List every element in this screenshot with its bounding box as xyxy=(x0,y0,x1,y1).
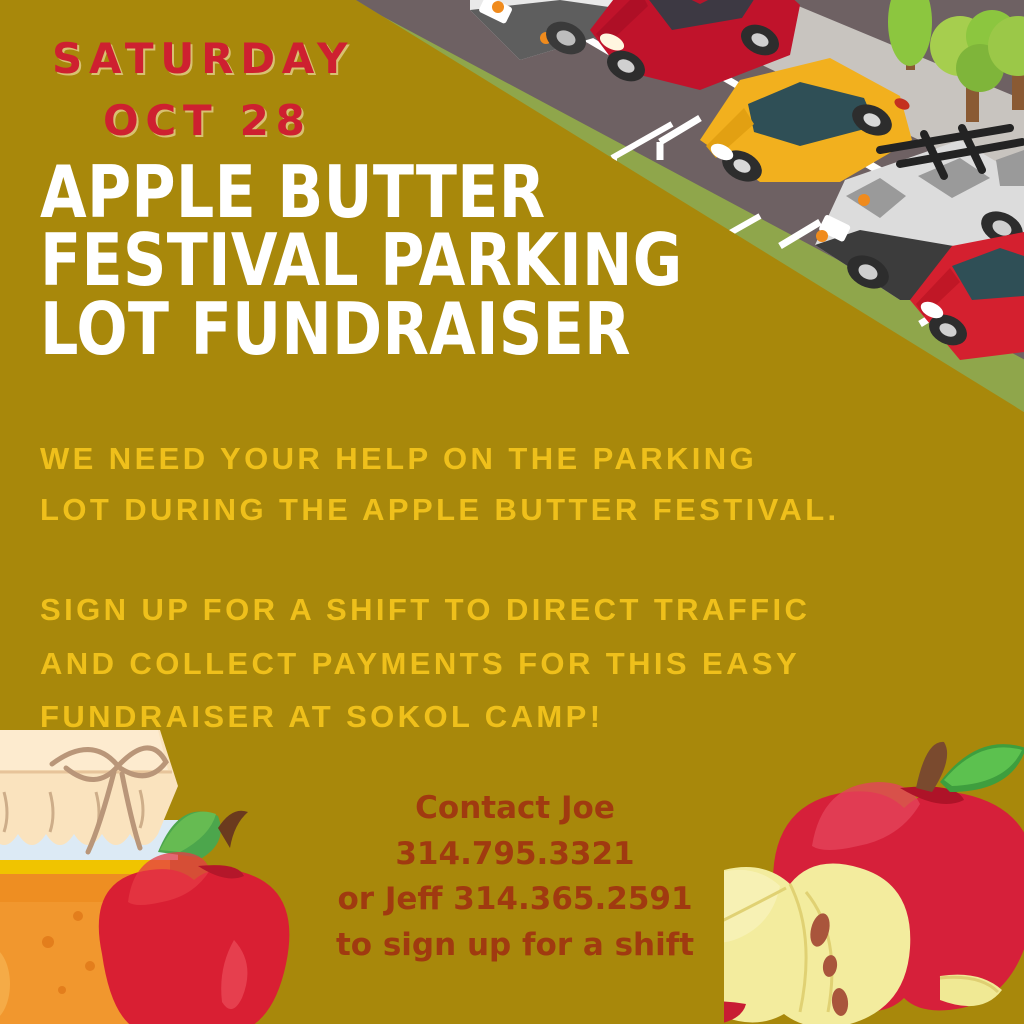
paragraph-2-line-2: AND COLLECT PAYMENTS FOR THIS EASY xyxy=(40,637,990,691)
jar-glass-shine xyxy=(0,946,10,1022)
apple-flesh xyxy=(724,864,910,1024)
apple-skin-edge xyxy=(724,1001,746,1024)
tree-foliage xyxy=(988,16,1024,76)
vehicle-truck-white xyxy=(470,0,675,61)
apple-slice xyxy=(940,975,1002,1006)
apple-slice-outline xyxy=(940,977,998,992)
headline-line-3: LOT FUNDRAISER xyxy=(40,295,635,363)
apple-dimple xyxy=(900,787,964,805)
apple-butter-jar-illustration xyxy=(0,724,312,1024)
paragraph-1-line-1: WE NEED YOUR HELP ON THE PARKING xyxy=(40,434,990,485)
tree-trunk xyxy=(1012,70,1024,110)
vehicle-car-red-2 xyxy=(910,232,1024,360)
jar-cloth-pleats xyxy=(4,790,143,832)
headline-title: APPLE BUTTER FESTIVAL PARKING LOT FUNDRA… xyxy=(40,158,635,363)
jar-twine-bow xyxy=(52,748,166,852)
vehicle-car-red-1 xyxy=(590,0,800,90)
apple-leaf xyxy=(158,812,221,859)
contact-call-to-action: to sign up for a shift xyxy=(280,923,750,969)
apple-seeds xyxy=(807,911,849,1016)
tree-foliage xyxy=(888,0,932,66)
contact-phone-secondary[interactable]: or Jeff 314.365.2591 xyxy=(280,877,750,923)
apple-leaf-highlight xyxy=(944,747,1022,786)
tree-foliage xyxy=(930,16,990,76)
apple-body xyxy=(773,791,1024,1011)
vehicle-van-white xyxy=(815,128,1024,300)
paragraph-2-line-1: SIGN UP FOR A SHIFT TO DIRECT TRAFFIC xyxy=(40,583,990,637)
event-date-label: OCT 28 xyxy=(103,96,312,145)
jar-butter-top xyxy=(0,844,170,874)
flyer-canvas: SATURDAY OCT 28 APPLE BUTTER FESTIVAL PA… xyxy=(0,0,1024,1024)
apple-highlight xyxy=(128,852,210,905)
headline-line-2: FESTIVAL PARKING xyxy=(40,226,635,294)
contact-phone-primary[interactable]: 314.795.3321 xyxy=(280,832,750,878)
event-day-label: SATURDAY xyxy=(52,34,354,83)
jar-texture-dots xyxy=(42,911,107,994)
apple-shine xyxy=(221,940,247,1009)
tree-group xyxy=(888,0,1024,122)
sidewalk xyxy=(560,0,1024,120)
apple-leaf xyxy=(940,744,1024,792)
apple-highlight xyxy=(812,782,920,850)
apple-body xyxy=(99,869,290,1024)
apple-leaf-highlight xyxy=(160,812,216,852)
apple-stem xyxy=(218,811,248,848)
description-paragraph-2: SIGN UP FOR A SHIFT TO DIRECT TRAFFIC AN… xyxy=(40,583,990,744)
sidewalk-strip xyxy=(560,0,1024,170)
tree-trunk xyxy=(906,36,915,70)
apple-dimple xyxy=(198,865,244,878)
contact-information: Contact Joe 314.795.3321 or Jeff 314.365… xyxy=(280,786,750,968)
paragraph-2-line-3: FUNDRAISER AT SOKOL CAMP! xyxy=(40,690,990,744)
jar-butter-body xyxy=(0,874,170,1024)
tree-foliage xyxy=(956,44,1004,92)
contact-name-line: Contact Joe xyxy=(280,786,750,832)
jar-glass xyxy=(0,852,170,1024)
tree-foliage xyxy=(966,10,1018,62)
description-paragraph-1: WE NEED YOUR HELP ON THE PARKING LOT DUR… xyxy=(40,434,990,536)
headline-line-1: APPLE BUTTER xyxy=(40,158,635,226)
jar-cloth-cover xyxy=(0,730,178,845)
tree-trunk xyxy=(966,78,979,122)
apple-stem xyxy=(916,742,947,792)
jar-neck xyxy=(0,820,178,860)
cut-apple-illustration xyxy=(724,726,1024,1024)
jar-highlight xyxy=(0,902,132,1024)
apple-front-illustration xyxy=(99,806,290,1024)
vehicle-car-red-3 xyxy=(650,0,761,5)
paragraph-1-line-2: LOT DURING THE APPLE BUTTER FESTIVAL. xyxy=(40,485,990,536)
vehicle-suv-yellow xyxy=(700,58,912,188)
